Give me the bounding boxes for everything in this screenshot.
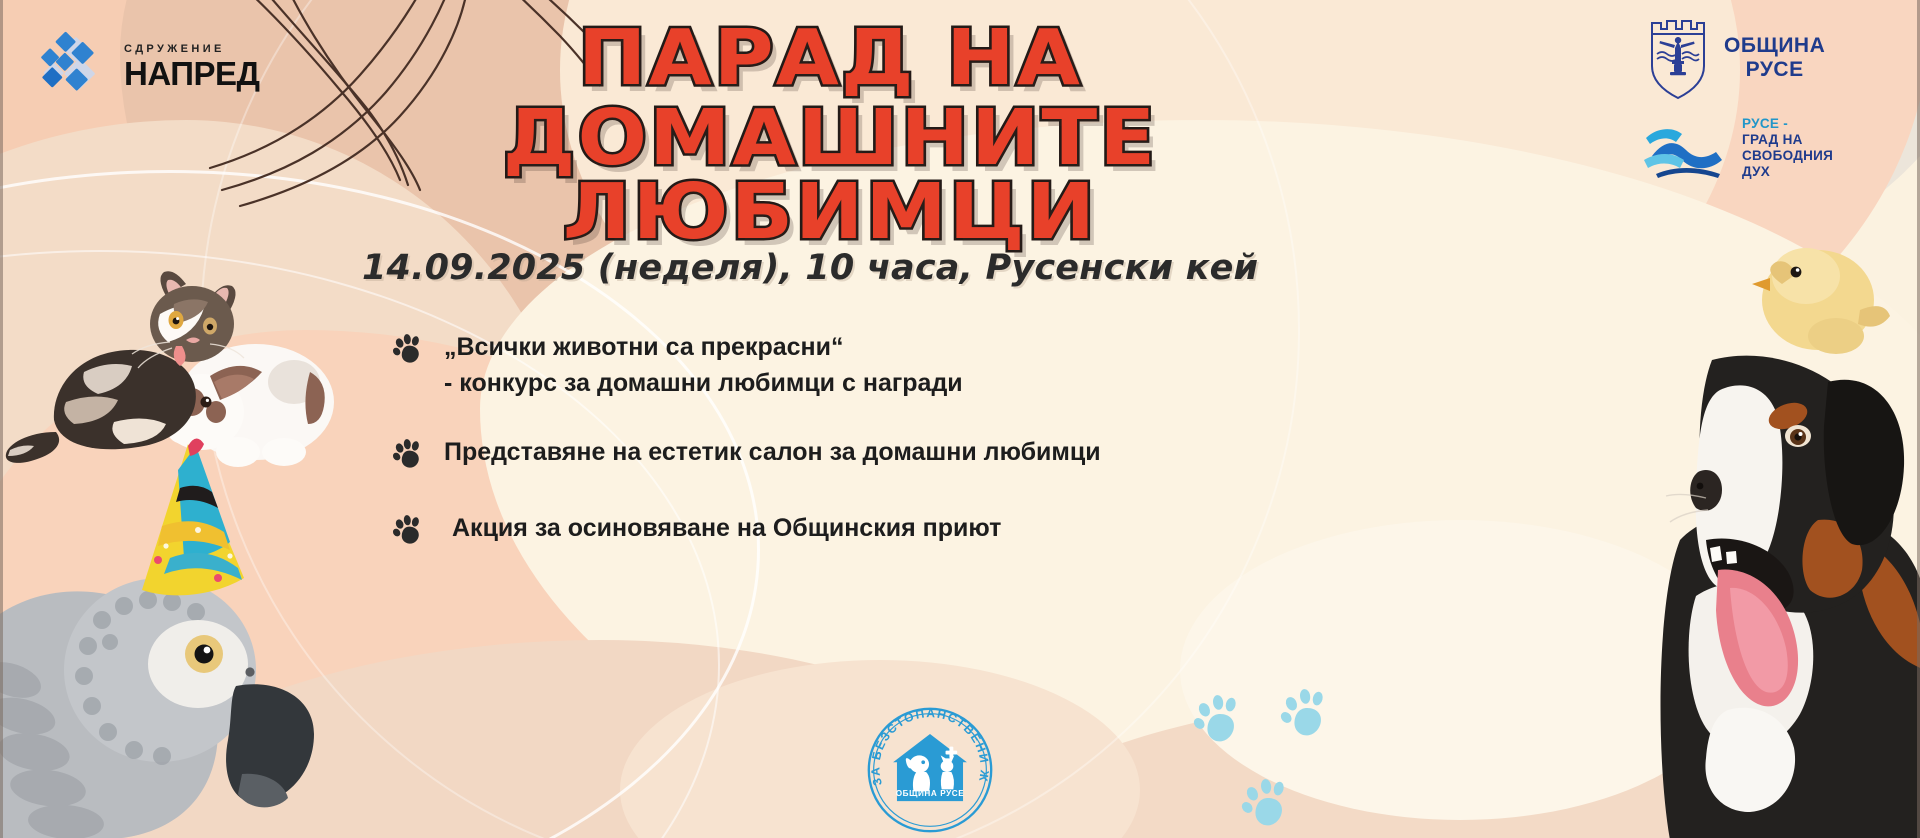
napred-subtitle: СДРУЖЕНИЕ (124, 44, 259, 55)
ruse-municipality-line2: РУСЕ (1724, 58, 1825, 82)
list-item: „Всички животни са прекрасни“ - конкурс … (392, 330, 1272, 401)
ruse-wave-bird-icon (1642, 116, 1734, 180)
list-item-text: Представяне на естетик салон за домашни … (444, 435, 1101, 471)
title-line-2: ДОМАШНИТЕ ЛЮБИМЦИ (300, 102, 1360, 250)
ruse-municipality-logo: ОБЩИНА РУСЕ (1642, 14, 1892, 102)
ruse-slogan-line1: РУСЕ - (1742, 116, 1833, 132)
blue-paw-prints-decoration (1185, 685, 1355, 838)
ruse-free-spirit-logo: РУСЕ - ГРАД НА СВОБОДНИЯ ДУХ (1642, 116, 1892, 180)
list-item: Акция за осиновяване на Общинския приют (392, 511, 1272, 547)
ruse-slogan-text: РУСЕ - ГРАД НА СВОБОДНИЯ ДУХ (1742, 116, 1833, 180)
poster-left-edge (0, 0, 3, 838)
paw-print-icon (392, 332, 426, 366)
grey-parrot-with-party-hat-photo (0, 430, 322, 838)
ruse-municipality-text: ОБЩИНА РУСЕ (1724, 34, 1825, 82)
animal-shelter-logo: ПРИЮТ ЗА БЕЗСТОПАНСТВЕНИ ЖИВОТНИ ОБЩИНА … (862, 702, 998, 838)
list-item-text: Акция за осиновяване на Общинския приют (444, 511, 1001, 547)
shelter-logo-inner-text: ОБЩИНА РУСЕ (896, 789, 965, 798)
title-line-1: ПАРАД НА (300, 22, 1360, 96)
paw-print-icon (1240, 778, 1285, 825)
list-item-line1: „Всички животни са прекрасни“ (444, 333, 844, 361)
event-program-list: „Всички животни са прекрасни“ - конкурс … (392, 330, 1272, 581)
ruse-slogan-line4: ДУХ (1742, 164, 1833, 180)
ruse-municipality-line1: ОБЩИНА (1724, 34, 1825, 58)
napred-name: НАПРЕД (124, 57, 259, 90)
napred-diamond-mark-icon (36, 30, 110, 104)
paw-print-icon (1192, 694, 1237, 741)
ruse-slogan-line3: СВОБОДНИЯ (1742, 148, 1833, 164)
paw-print-icon (392, 437, 426, 471)
list-item-line1: Акция за осиновяване на Общинския приют (452, 514, 1001, 542)
pet-parade-poster: СДРУЖЕНИЕ НАПРЕД (0, 0, 1920, 838)
bernese-dog-with-chick-photo (1560, 240, 1920, 838)
list-item-line1: Представяне на естетик салон за домашни … (444, 438, 1101, 466)
ruse-coat-of-arms-icon (1642, 14, 1714, 102)
list-item-text: „Всички животни са прекрасни“ - конкурс … (444, 330, 963, 401)
paw-print-icon (392, 513, 426, 547)
list-item-line2: - конкурс за домашни любимци с награди (444, 366, 963, 402)
napred-association-logo: СДРУЖЕНИЕ НАПРЕД (36, 30, 259, 104)
event-date-line: 14.09.2025 (неделя), 10 часа, Русенски к… (362, 248, 1258, 288)
poster-title: ПАРАД НА ДОМАШНИТЕ ЛЮБИМЦИ (330, 22, 1330, 250)
ruse-slogan-line2: ГРАД НА (1742, 132, 1833, 148)
paw-print-icon (1279, 688, 1324, 735)
ruse-logos-group: ОБЩИНА РУСЕ РУСЕ - ГРАД НА СВОБОДНИЯ ДУХ (1642, 14, 1892, 180)
list-item: Представяне на естетик салон за домашни … (392, 435, 1272, 471)
